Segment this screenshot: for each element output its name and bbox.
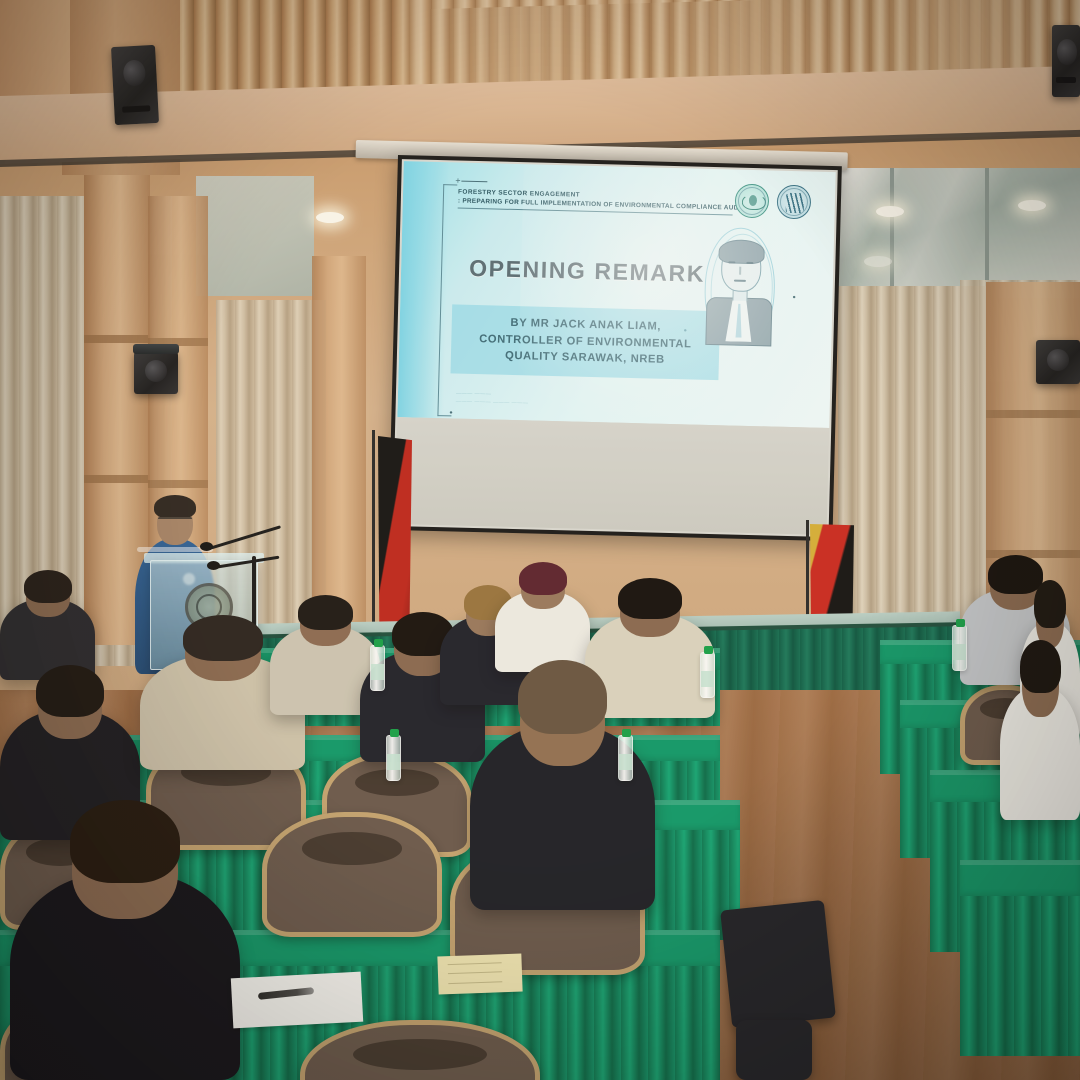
audience-member	[495, 562, 590, 672]
recessed-downlight	[864, 256, 892, 267]
screen-blank-area	[395, 417, 830, 535]
column-speaker	[1036, 340, 1080, 384]
recessed-downlight	[316, 212, 344, 223]
skirted-banquet-table	[960, 860, 1080, 896]
slide-subtitle-box: BY MR JACK ANAK LIAM, CONTROLLER OF ENVI…	[450, 304, 720, 379]
projected-slide: + • • • FORESTRY SECTOR ENGAGEMENT : PRE…	[397, 161, 835, 428]
water-bottle	[386, 735, 401, 781]
shoe	[736, 1020, 812, 1080]
slide-dot-mark: •	[449, 408, 452, 417]
banquet-chair	[300, 1020, 540, 1080]
audience-member	[1000, 640, 1080, 820]
slide-dot-mark: •	[792, 293, 795, 302]
water-bottle	[618, 735, 633, 781]
audience-member	[0, 570, 95, 680]
slide-header: FORESTRY SECTOR ENGAGEMENT : PREPARING F…	[458, 189, 758, 217]
banquet-chair	[262, 812, 442, 937]
window-mullion	[890, 168, 894, 298]
audience-member	[470, 660, 655, 910]
microphone-head	[200, 542, 213, 551]
slide-footer-line1: ——— ———	[456, 391, 529, 399]
column-speaker	[134, 352, 178, 394]
water-bottle	[952, 625, 967, 671]
slide-title: OPENING REMARK	[457, 255, 718, 289]
projection-screen: + • • • FORESTRY SECTOR ENGAGEMENT : PRE…	[389, 155, 842, 541]
slide-footer-line2: ——— ——— ——— ———	[456, 399, 529, 407]
eyeglasses	[158, 517, 192, 524]
yellow-notepad	[437, 954, 522, 995]
recessed-downlight	[876, 206, 904, 217]
speaker-portrait-illustration	[699, 227, 780, 349]
nreb-circular-logo	[735, 184, 770, 219]
slide-footer: ——— ——— ——— ——— ——— ———	[456, 391, 529, 407]
wall-pilaster	[312, 256, 366, 646]
window-mullion	[985, 168, 989, 298]
wall-speaker-left	[111, 45, 159, 125]
slide-tick	[461, 181, 487, 183]
recessed-downlight	[1018, 200, 1046, 211]
audience-member	[10, 800, 240, 1080]
microphone-head	[207, 561, 220, 570]
agency-circular-logo	[777, 185, 812, 220]
clerestory-glazing	[196, 176, 314, 296]
conference-room-photo: + • • • FORESTRY SECTOR ENGAGEMENT : PRE…	[0, 0, 1080, 1080]
speaker-mount-bracket	[133, 344, 179, 354]
water-bottle	[700, 652, 715, 698]
white-paper-sheet	[231, 972, 363, 1029]
wall-speaker-right	[1052, 25, 1080, 97]
backpack	[720, 900, 836, 1028]
water-bottle	[370, 645, 385, 691]
slide-plus-mark: +	[455, 176, 460, 185]
clerestory-glazing	[820, 168, 1080, 298]
